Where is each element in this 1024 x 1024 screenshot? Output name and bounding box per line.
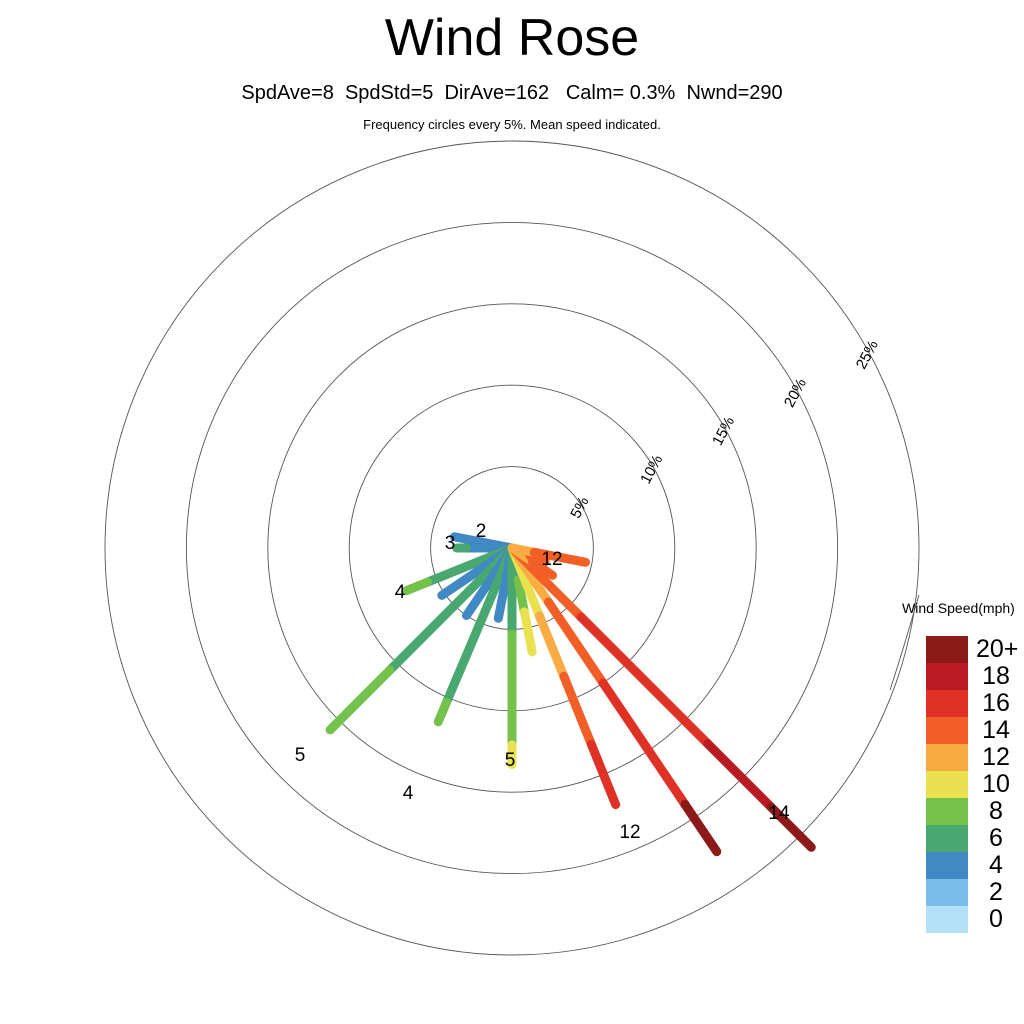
ring-label: 5% (567, 494, 592, 521)
legend-label: 0 (976, 906, 1016, 933)
wind-rose-page: Wind Rose SpdAve=8 SpdStd=5 DirAve=162 C… (0, 0, 1024, 1024)
legend-label: 18 (976, 663, 1016, 690)
legend-swatch (926, 663, 968, 690)
ring-label: 10% (637, 452, 666, 486)
petal-mean-speed-label: 5 (295, 745, 306, 766)
petal-segment (390, 548, 512, 670)
petal-segment (524, 612, 532, 652)
legend-swatch (926, 906, 968, 933)
petal-mean-speed-label: 12 (619, 822, 640, 843)
petal-mean-speed-label: 3 (445, 533, 456, 554)
legend-swatch (926, 636, 968, 663)
frequency-ring-labels: 5%10%15%20%25% (567, 338, 882, 522)
legend-swatch (926, 798, 968, 825)
petal-segment (708, 744, 771, 807)
petal-segment (603, 683, 685, 804)
petal-mean-speed-label: 12 (541, 549, 562, 570)
legend-swatch (926, 717, 968, 744)
legend-swatch (926, 879, 968, 906)
petal-segment (564, 676, 591, 744)
legend-title: Wind Speed(mph) (902, 600, 1024, 616)
petal-segment (330, 670, 390, 730)
petal-segment (406, 582, 427, 591)
legend-swatches (926, 636, 968, 933)
petal-mean-speed-label: 4 (403, 783, 414, 804)
legend-swatch (926, 744, 968, 771)
petal-mean-speed-label: 5 (505, 750, 516, 771)
ring-label: 15% (709, 414, 738, 448)
legend-label: 8 (976, 798, 1016, 825)
legend: Wind Speed(mph) 20+181614121086420 (898, 600, 1024, 933)
legend-label: 16 (976, 690, 1016, 717)
wind-rose-plot: 5%10%15%20%25% 234545121412 (0, 0, 1024, 1024)
legend-swatch (926, 690, 968, 717)
petal-mean-speed-label: 2 (476, 521, 487, 542)
petal-segment (685, 804, 717, 851)
petal-mean-speed-label: 14 (768, 803, 790, 824)
legend-label: 4 (976, 852, 1016, 879)
ring-label: 20% (781, 376, 810, 410)
legend-label: 20+ (976, 636, 1024, 663)
legend-label: 14 (976, 717, 1016, 744)
legend-label: 6 (976, 825, 1016, 852)
petal-mean-speed-label: 4 (395, 582, 406, 603)
ring-label: 25% (853, 338, 882, 372)
legend-label: 2 (976, 879, 1016, 906)
legend-swatch (926, 852, 968, 879)
legend-body: 20+181614121086420 (898, 636, 1024, 933)
legend-swatch (926, 771, 968, 798)
legend-labels: 20+181614121086420 (976, 636, 1024, 933)
legend-label: 10 (976, 771, 1016, 798)
petal-segment (438, 702, 446, 721)
legend-label: 12 (976, 744, 1016, 771)
legend-swatch (926, 825, 968, 852)
petal-segment (591, 744, 615, 804)
